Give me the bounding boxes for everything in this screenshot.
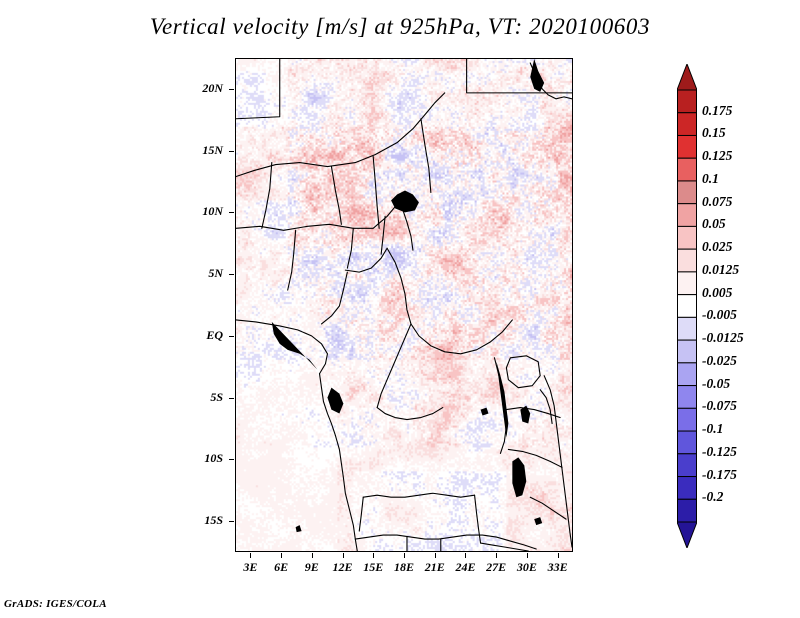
colorbar-tick-label: -0.05 — [702, 376, 730, 392]
y-axis-tick-label-10n: 10N — [177, 204, 223, 219]
colorbar-tick-label: 0.175 — [702, 103, 732, 119]
y-axis-tick-mark — [229, 89, 234, 90]
y-axis-tick-label-10s: 10S — [177, 451, 223, 466]
colorbar-tick-label: -0.175 — [702, 467, 737, 483]
page-title: Vertical velocity [m/s] at 925hPa, VT: 2… — [0, 14, 800, 40]
x-axis-tick-mark — [312, 553, 313, 558]
colorbar-tick-label: 0.05 — [702, 216, 726, 232]
y-axis-tick-mark — [229, 212, 234, 213]
colorbar-bands — [677, 64, 697, 548]
x-axis-tick-mark — [558, 553, 559, 558]
y-axis-tick-label-15s: 15S — [177, 513, 223, 528]
y-axis-tick-mark — [229, 336, 234, 337]
colorbar-tick-label: -0.125 — [702, 444, 737, 460]
colorbar-tick-label: -0.005 — [702, 307, 737, 323]
colorbar-tick-label: -0.2 — [702, 489, 723, 505]
colorbar-tick-label: -0.0125 — [702, 330, 744, 346]
x-axis-tick-mark — [435, 553, 436, 558]
y-axis-tick-label-5s: 5S — [177, 390, 223, 405]
x-axis-tick-mark — [527, 553, 528, 558]
vertical-velocity-heatmap — [236, 59, 572, 551]
x-axis-tick-mark — [465, 553, 466, 558]
x-axis-tick-mark — [343, 553, 344, 558]
map-plot-area — [235, 58, 573, 552]
colorbar-tick-label: -0.075 — [702, 398, 737, 414]
y-axis-tick-label-eq: EQ — [177, 328, 223, 343]
colorbar-tick-label: 0.075 — [702, 194, 732, 210]
y-axis-tick-label-20n: 20N — [177, 81, 223, 96]
y-axis-tick-mark — [229, 274, 234, 275]
x-axis-tick-mark — [250, 553, 251, 558]
y-axis-tick-label-5n: 5N — [177, 266, 223, 281]
y-axis-tick-mark — [229, 398, 234, 399]
colorbar — [677, 64, 697, 548]
y-axis-tick-mark — [229, 151, 234, 152]
x-axis-tick-label-33e: 33E — [540, 560, 576, 575]
colorbar-tick-label: 0.005 — [702, 285, 732, 301]
colorbar-tick-label: 0.15 — [702, 125, 726, 141]
y-axis-tick-label-15n: 15N — [177, 143, 223, 158]
attribution-text: GrADS: IGES/COLA — [4, 598, 107, 610]
colorbar-tick-label: -0.025 — [702, 353, 737, 369]
colorbar-tick-label: 0.1 — [702, 171, 719, 187]
colorbar-tick-label: 0.0125 — [702, 262, 739, 278]
y-axis-tick-mark — [229, 521, 234, 522]
x-axis-tick-mark — [496, 553, 497, 558]
x-axis-tick-mark — [373, 553, 374, 558]
y-axis-tick-mark — [229, 459, 234, 460]
x-axis-tick-mark — [404, 553, 405, 558]
x-axis-tick-mark — [281, 553, 282, 558]
colorbar-tick-label: 0.125 — [702, 148, 732, 164]
colorbar-tick-label: -0.1 — [702, 421, 723, 437]
colorbar-tick-label: 0.025 — [702, 239, 732, 255]
